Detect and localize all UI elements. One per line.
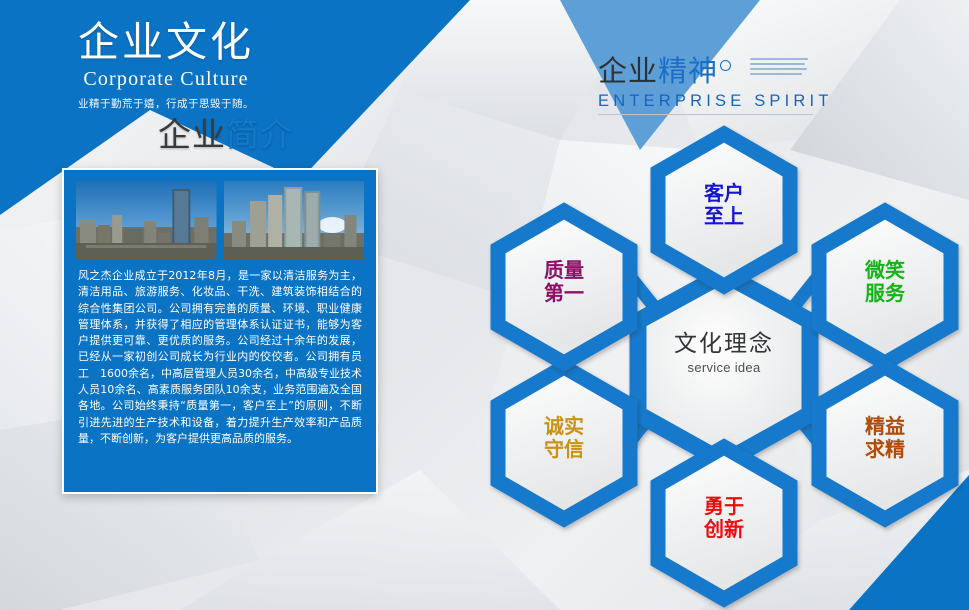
circle-dot-icon [720,60,731,71]
culture-motto: 业精于勤荒于嬉，行成于思毁于随。 [36,96,296,111]
corporate-culture-title: 企业文化 Corporate Culture 业精于勤荒于嬉，行成于思毁于随。 [36,18,296,111]
hexagon-quality-first [498,211,630,363]
culture-title-cn: 企业文化 [36,18,296,66]
hexagon-integrity [498,367,630,519]
center-label-cn: 文化理念 [624,324,824,358]
company-intro-panel: 风之杰企业成立于2012年8月，是一家以清洁服务为主，清洁用品、旅游服务、化妆品… [62,168,378,494]
company-intro-text: 风之杰企业成立于2012年8月，是一家以清洁服务为主，清洁用品、旅游服务、化妆品… [64,259,376,457]
poster-canvas: 企业文化 Corporate Culture 业精于勤荒于嬉，行成于思毁于随。 … [0,0,969,610]
company-intro-title: 企业简介 [158,115,294,155]
city-towers-photo [224,181,365,259]
city-skyline-photo [76,181,217,259]
hexagon-customer-first [658,134,790,286]
intro-title-part2: 简介 [226,115,294,154]
spirit-cn-blue: 精神 [658,54,718,88]
hexagon-smile-service [819,211,951,363]
panel-photo-row [64,170,376,259]
hexagon-innovation [658,447,790,599]
culture-hexagon-diagram: 文化理念 service idea 客户 至上 微笑 服务 精益 求精 勇于 创… [480,106,969,610]
intro-title-part1: 企业 [158,115,226,154]
culture-title-en: Corporate Culture [36,68,296,91]
center-label-en: service idea [624,360,824,375]
spirit-cn-dark: 企业 [598,54,658,88]
hexagon-excellence [819,367,951,519]
decorative-text-lines-icon [750,58,810,78]
